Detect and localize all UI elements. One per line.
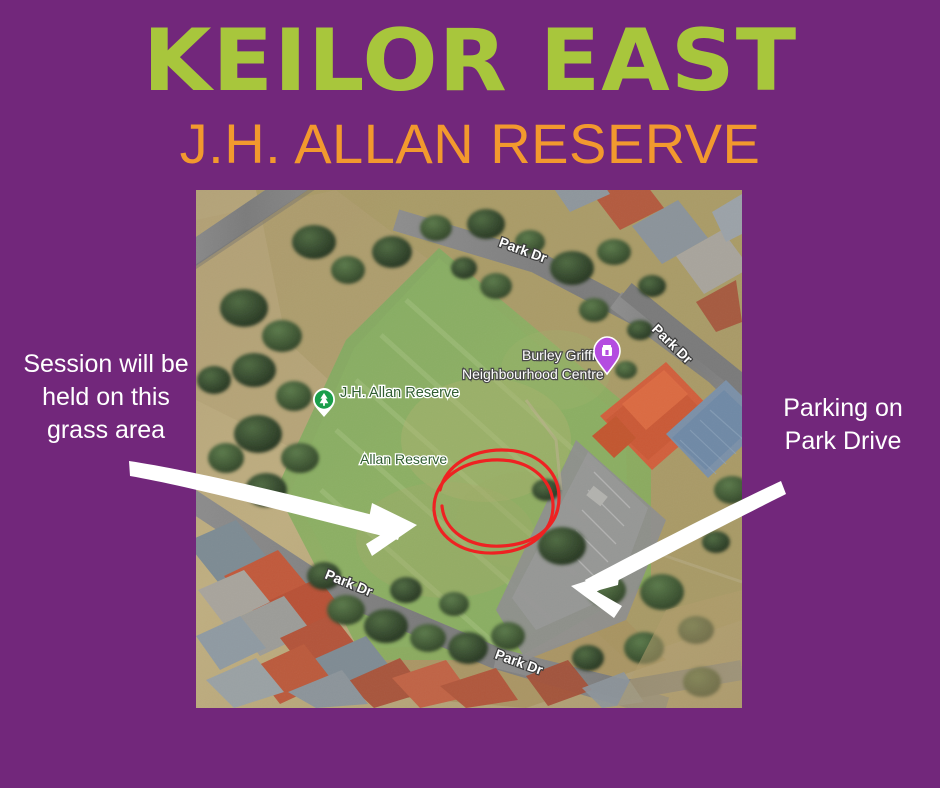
- annotation-right: Parking on Park Drive: [748, 392, 938, 458]
- annotation-left-line3: grass area: [6, 414, 206, 447]
- annotation-right-line2: Park Drive: [748, 425, 938, 458]
- annotation-left-line2: held on this: [6, 381, 206, 414]
- map-svg: Park Dr Park Dr Park Dr Park Dr Burley G…: [196, 190, 742, 708]
- aerial-map[interactable]: Park Dr Park Dr Park Dr Park Dr Burley G…: [196, 190, 742, 708]
- annotation-left: Session will be held on this grass area: [6, 348, 206, 447]
- reserve-text-label: Allan Reserve: [360, 451, 447, 467]
- centre-label-line2: Neighbourhood Centre: [462, 366, 604, 382]
- page-subtitle: J.H. ALLAN RESERVE: [0, 116, 940, 172]
- annotation-right-line1: Parking on: [748, 392, 938, 425]
- centre-label-line1: Burley Griffin: [522, 347, 603, 363]
- park-poi-label: J.H. Allan Reserve: [340, 385, 459, 401]
- poster-canvas: KEILOR EAST J.H. ALLAN RESERVE: [0, 0, 940, 788]
- page-title: KEILOR EAST: [0, 18, 940, 104]
- annotation-left-line1: Session will be: [6, 348, 206, 381]
